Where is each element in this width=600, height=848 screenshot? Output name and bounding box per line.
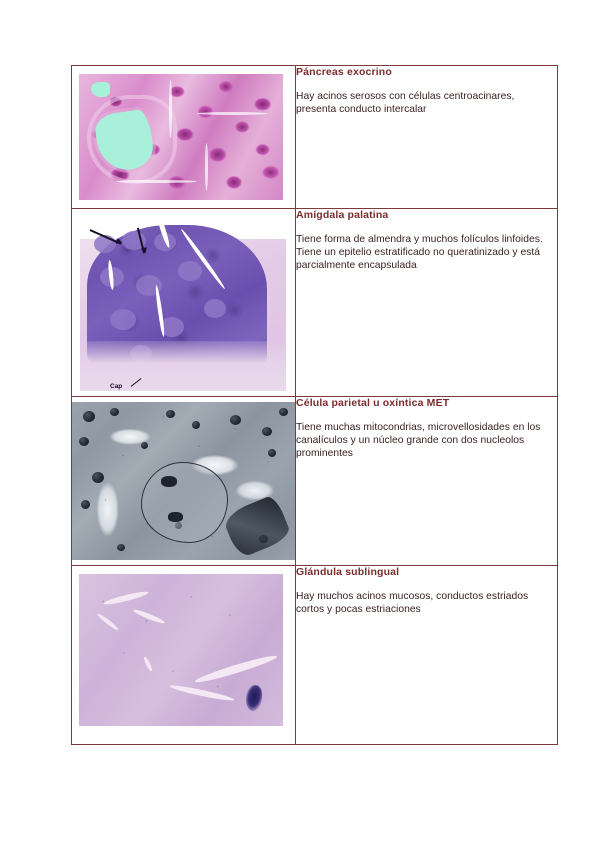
secretory-granule [262, 427, 272, 436]
palatine-tonsil-micrograph: Cap [72, 209, 295, 394]
specimen-description: Tiene muchas mitocondrias, microvellosid… [296, 421, 557, 461]
figure-cell-parietal-cell [72, 397, 296, 566]
striated-duct [132, 607, 165, 624]
tissue-strand [169, 80, 172, 138]
secretory-granule [79, 437, 89, 446]
figure-cell-tonsil: Cap [72, 209, 296, 397]
secretory-granule [141, 442, 148, 449]
striated-duct [143, 656, 154, 672]
nucleolus [168, 512, 183, 522]
specimen-title: Páncreas exocrino [296, 66, 557, 79]
tissue-strand [116, 180, 198, 183]
histology-specimen-table: Páncreas exocrino Hay acinos serosos con… [71, 65, 558, 745]
cell-nucleus [141, 462, 228, 543]
specimen-description: Hay muchos acinos mucosos, conductos est… [296, 590, 557, 616]
text-cell-parietal-cell: Célula parietal u oxíntica MET Tiene muc… [296, 397, 558, 566]
tissue-strand [197, 112, 266, 115]
pancreas-exocrine-micrograph [79, 74, 283, 200]
sublingual-gland-micrograph [79, 574, 283, 726]
duct-lumen-secondary [91, 82, 109, 97]
figure-cell-pancreas [72, 66, 296, 209]
parietal-cell-tem-micrograph [72, 402, 295, 560]
table-row: Glándula sublingual Hay muchos acinos mu… [72, 566, 558, 745]
specimen-title: Célula parietal u oxíntica MET [296, 397, 557, 410]
text-cell-pancreas: Páncreas exocrino Hay acinos serosos con… [296, 66, 558, 209]
figure-cell-sublingual [72, 566, 296, 745]
table-row: Célula parietal u oxíntica MET Tiene muc… [72, 397, 558, 566]
lymphoid-follicle [110, 309, 136, 330]
text-cell-sublingual: Glándula sublingual Hay muchos acinos mu… [296, 566, 558, 745]
striated-duct [169, 683, 235, 703]
basophilic-focus [243, 683, 265, 712]
secretory-granule [117, 544, 125, 551]
lymphoid-follicle [204, 299, 226, 318]
table-row: Páncreas exocrino Hay acinos serosos con… [72, 66, 558, 209]
striated-duct [103, 590, 149, 607]
secretory-granule [81, 500, 90, 509]
striated-duct [97, 612, 120, 631]
secretory-granule [92, 472, 104, 483]
secretory-granule [166, 410, 175, 418]
tissue-strand [205, 143, 208, 191]
striated-duct [194, 653, 279, 686]
text-cell-tonsil: Amígdala palatina Tiene forma de almendr… [296, 209, 558, 397]
document-page: Páncreas exocrino Hay acinos serosos con… [0, 0, 600, 848]
tonsil-section: Cap [74, 213, 293, 393]
nucleolus [161, 476, 177, 487]
specimen-description: Hay acinos serosos con células centroaci… [296, 90, 557, 116]
secretory-granule [230, 415, 241, 425]
lymphoid-follicle [178, 261, 202, 281]
table-row: Cap Amígdala palatina Tiene forma de alm… [72, 209, 558, 397]
specimen-description: Tiene forma de almendra y muchos folícul… [296, 233, 557, 273]
specimen-title: Glándula sublingual [296, 566, 557, 579]
capsule-label: Cap [110, 383, 122, 390]
table-body: Páncreas exocrino Hay acinos serosos con… [72, 66, 558, 745]
specimen-title: Amígdala palatina [296, 209, 557, 222]
